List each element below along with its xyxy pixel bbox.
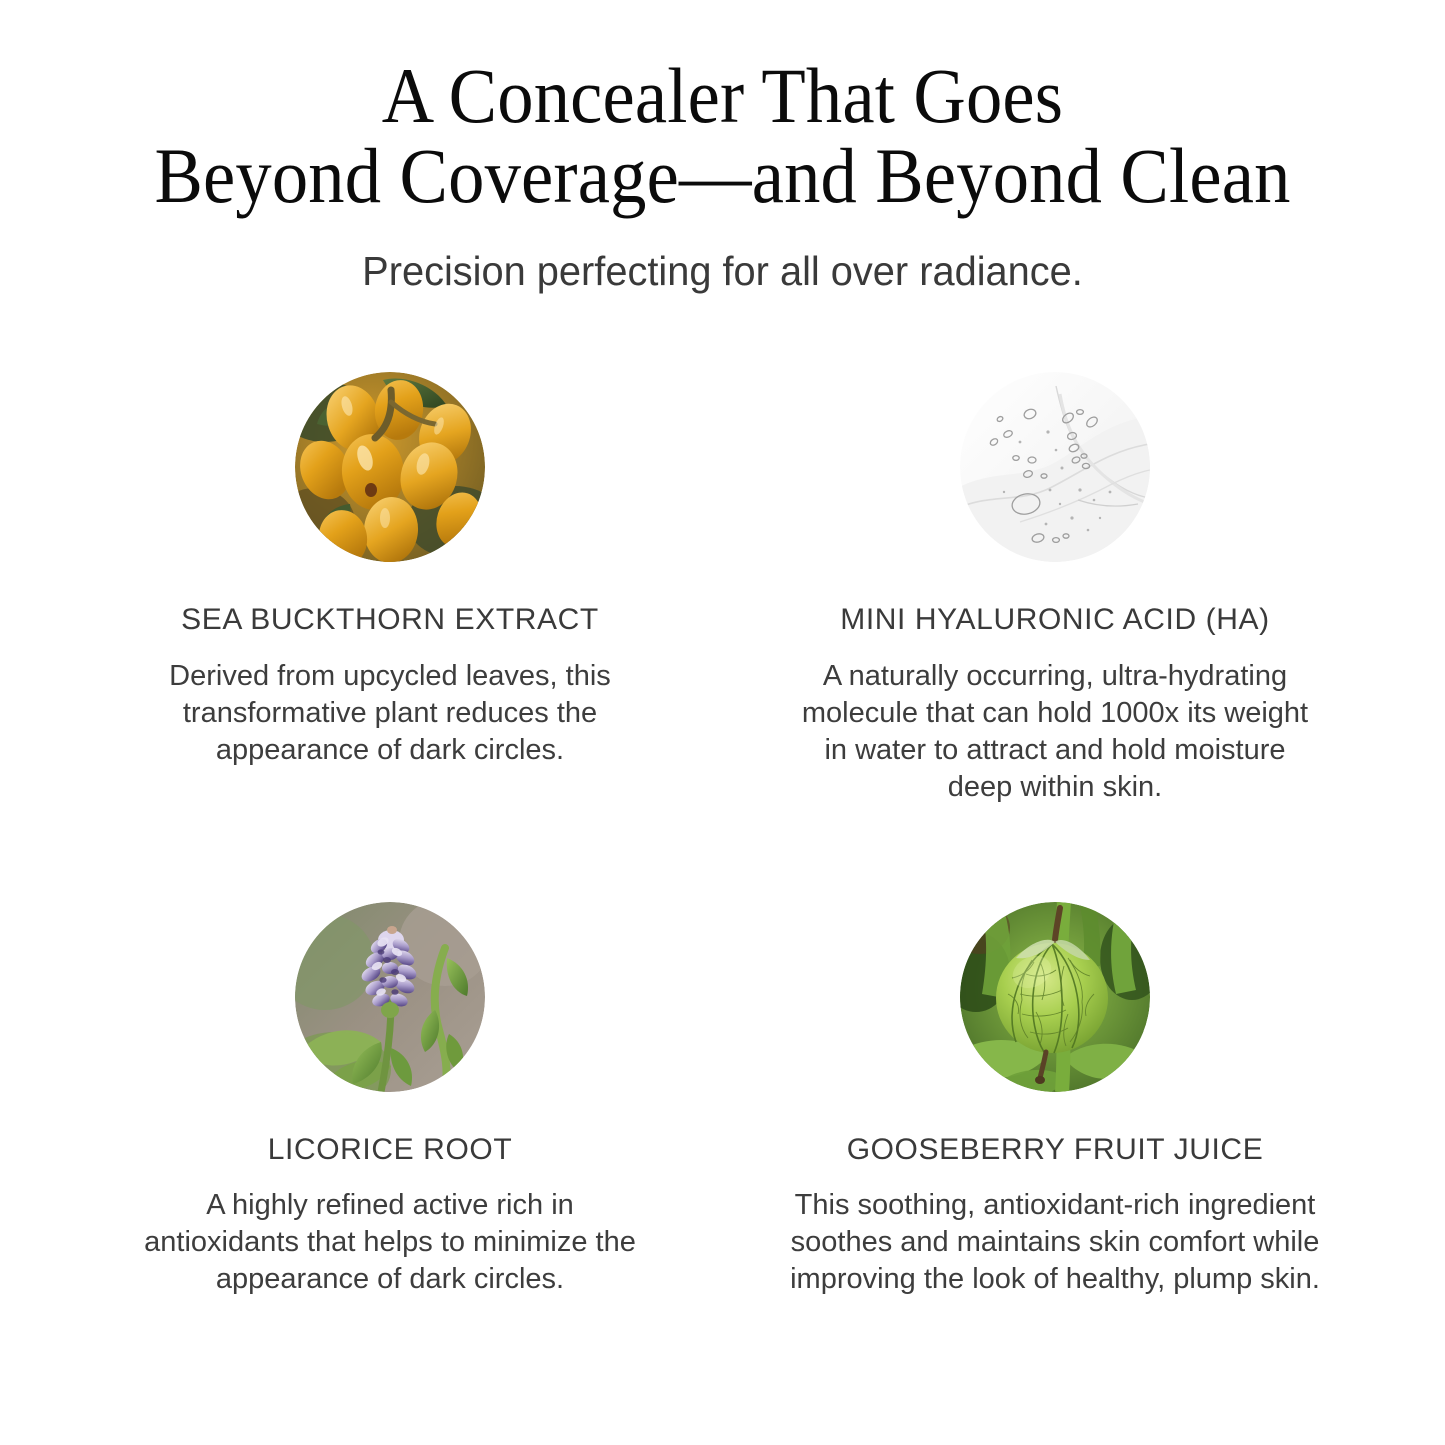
ingredient-card-gooseberry: GOOSEBERRY FRUIT JUICE This soothing, an… bbox=[723, 902, 1388, 1299]
ingredient-description: A naturally occurring, ultra-hydrating m… bbox=[790, 638, 1320, 806]
page-header: A Concealer That Goes Beyond Coverage—an… bbox=[0, 0, 1445, 294]
page-title-line-2: Beyond Coverage—and Beyond Clean bbox=[51, 136, 1395, 216]
ingredient-title: MINI HYALURONIC ACID (HA) bbox=[840, 562, 1269, 638]
page-title-line-1: A Concealer That Goes bbox=[51, 56, 1395, 136]
ingredient-title: GOOSEBERRY FRUIT JUICE bbox=[847, 1092, 1264, 1168]
ingredient-card-hyaluronic-acid: MINI HYALURONIC ACID (HA) A naturally oc… bbox=[723, 372, 1388, 806]
ingredient-description: This soothing, antioxidant-rich ingredie… bbox=[790, 1167, 1320, 1298]
page-subtitle: Precision perfecting for all over radian… bbox=[22, 215, 1424, 294]
ingredient-grid: SEA BUCKTHORN EXTRACT Derived from upcyc… bbox=[58, 294, 1388, 1298]
hyaluronic-acid-gel-texture-photo bbox=[960, 372, 1150, 562]
licorice-root-flower-photo bbox=[295, 902, 485, 1092]
ingredient-description: Derived from upcycled leaves, this trans… bbox=[125, 638, 655, 769]
gooseberry-husk-fruit-photo bbox=[960, 902, 1150, 1092]
ingredient-benefits-page: A Concealer That Goes Beyond Coverage—an… bbox=[0, 0, 1445, 1445]
page-title: A Concealer That Goes Beyond Coverage—an… bbox=[51, 56, 1395, 215]
ingredient-card-licorice-root: LICORICE ROOT A highly refined active ri… bbox=[58, 902, 723, 1299]
ingredient-title: LICORICE ROOT bbox=[268, 1092, 513, 1168]
ingredient-card-sea-buckthorn: SEA BUCKTHORN EXTRACT Derived from upcyc… bbox=[58, 372, 723, 806]
sea-buckthorn-berries-photo bbox=[295, 372, 485, 562]
ingredient-title: SEA BUCKTHORN EXTRACT bbox=[181, 562, 599, 638]
ingredient-description: A highly refined active rich in antioxid… bbox=[125, 1167, 655, 1298]
